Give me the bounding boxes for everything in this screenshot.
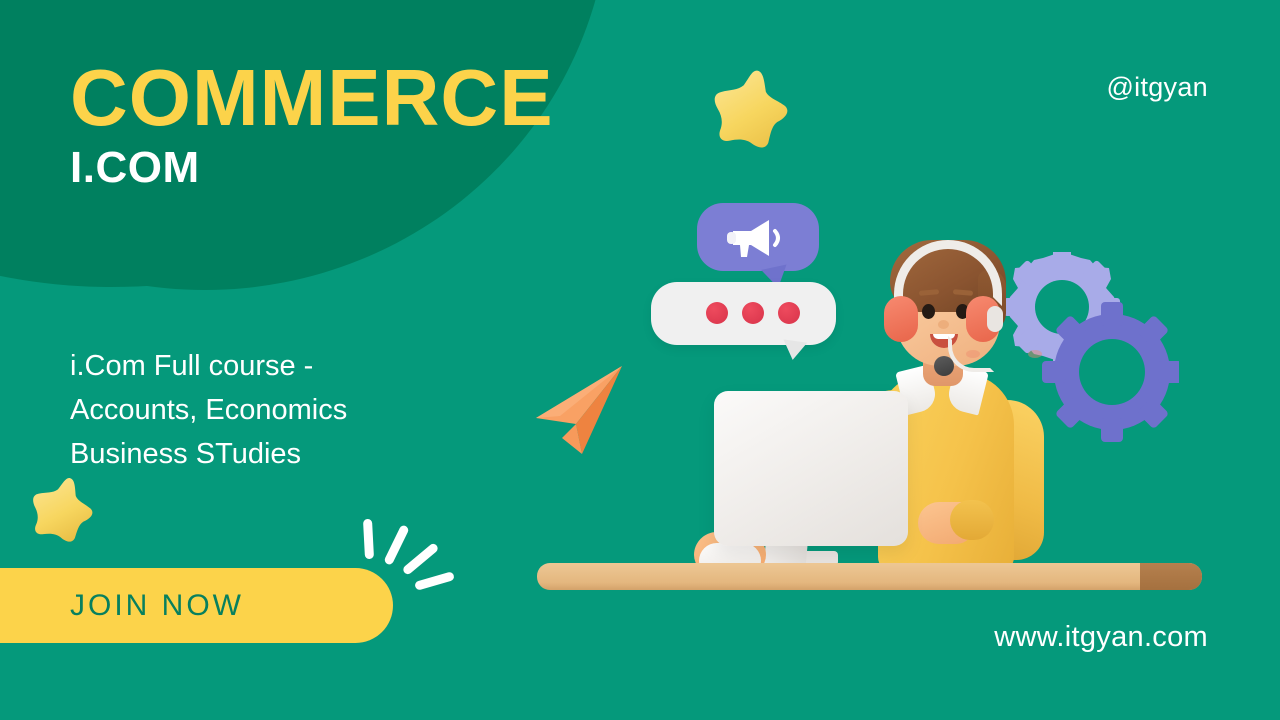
paper-plane-icon <box>524 362 628 463</box>
star-icon-large <box>702 64 794 156</box>
headset-mic-icon <box>934 356 954 376</box>
course-description: i.Com Full course - Accounts, Economics … <box>70 344 500 476</box>
desk-surface <box>537 563 1202 590</box>
promo-banner: COMMERCE I.COM i.Com Full course - Accou… <box>0 0 1280 720</box>
typing-indicator-bubble <box>651 282 836 345</box>
website-url: www.itgyan.com <box>994 621 1208 654</box>
join-now-button[interactable]: JOIN NOW <box>0 568 393 643</box>
typing-dots <box>706 302 800 324</box>
join-now-label: JOIN NOW <box>70 589 244 623</box>
social-handle: @itgyan <box>1106 72 1208 103</box>
headset-earcup-left <box>884 296 918 342</box>
star-icon-small <box>22 472 98 548</box>
sparkle-burst-icon <box>340 505 450 590</box>
megaphone-speech-bubble <box>697 203 819 271</box>
page-subtitle: I.COM <box>70 146 200 190</box>
megaphone-icon <box>725 217 791 264</box>
page-title: COMMERCE <box>70 58 554 138</box>
monitor-screen <box>714 391 908 546</box>
